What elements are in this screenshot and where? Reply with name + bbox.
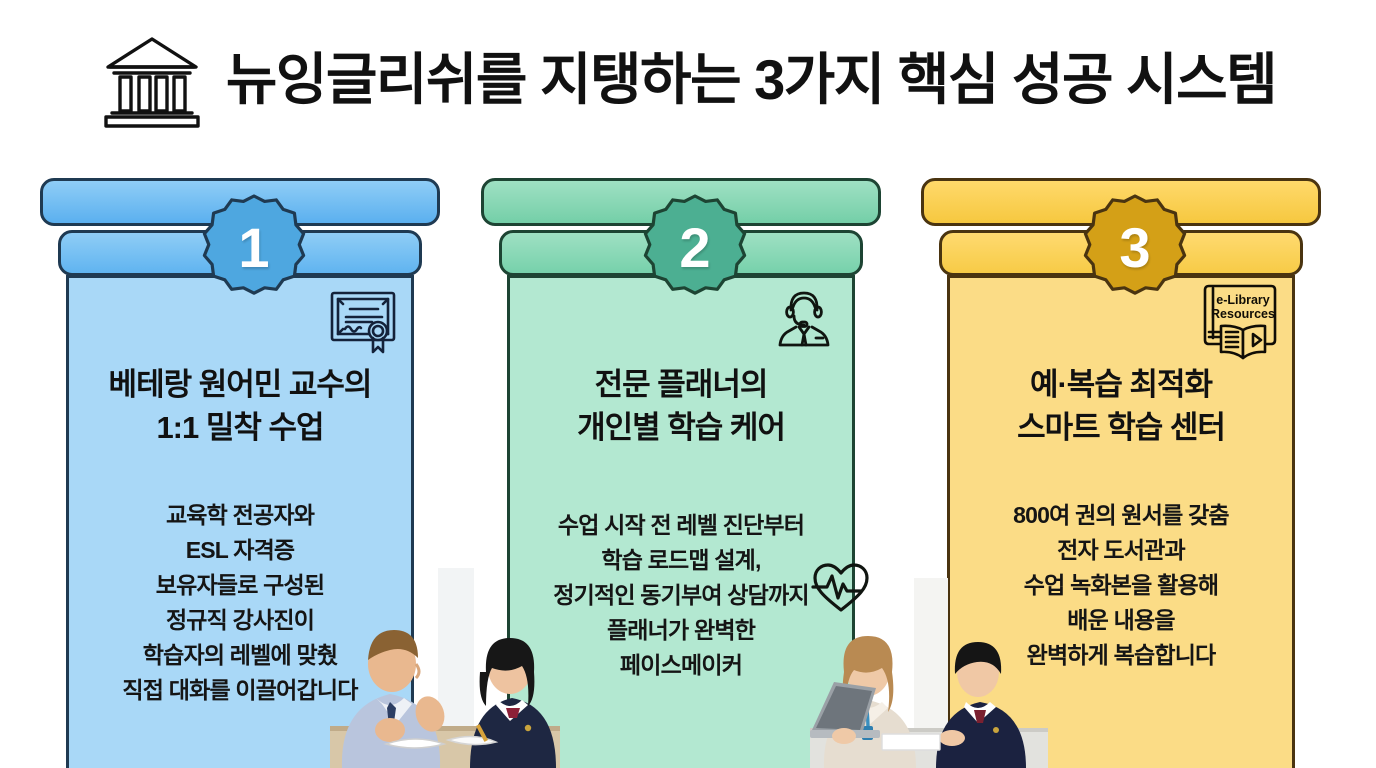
systems-card-row: 1 베테랑 원어민 교수의 1:1 밀착 수업: [0, 178, 1376, 768]
card-heading-line1: 베테랑 원어민 교수의: [70, 364, 410, 407]
card-heading-line2: 스마트 학습 센터: [951, 407, 1291, 450]
support-agent-headset-icon: [769, 286, 839, 356]
teacher-student-photo: [330, 568, 560, 768]
card-body-line: 800여 권의 원서를 갖춤: [937, 498, 1305, 533]
planner-student-photo: [810, 578, 1048, 768]
card-heading-line2: 개인별 학습 케어: [511, 407, 851, 450]
card-body-line: 교육학 전공자와: [56, 498, 424, 533]
page-header: 뉴잉글리쉬를 지탱하는 3가지 핵심 성공 시스템: [0, 0, 1376, 160]
card-heading: 베테랑 원어민 교수의 1:1 밀착 수업: [70, 364, 410, 450]
card-heading-line2: 1:1 밀착 수업: [70, 407, 410, 450]
card-heading: 전문 플래너의 개인별 학습 케어: [511, 364, 851, 450]
page-title: 뉴잉글리쉬를 지탱하는 3가지 핵심 성공 시스템: [226, 49, 1276, 111]
card-number-label: 2: [639, 192, 751, 304]
card-number-badge: 2: [639, 192, 751, 304]
card-number-label: 1: [198, 192, 310, 304]
e-library-label-line2: Resources: [1211, 307, 1275, 321]
e-library-label-line1: e-Library: [1216, 293, 1270, 307]
card-heading-line1: 예·복습 최적화: [951, 364, 1291, 407]
card-number-badge: 3: [1079, 192, 1191, 304]
card-body-line: 전자 도서관과: [937, 533, 1305, 568]
card-number-label: 3: [1079, 192, 1191, 304]
card-heading: 예·복습 최적화 스마트 학습 센터: [951, 364, 1291, 450]
card-body-line: 수업 시작 전 레벨 진단부터: [497, 508, 865, 543]
card-number-badge: 1: [198, 192, 310, 304]
certificate-icon: [328, 286, 398, 356]
e-library-book-icon: e-Library Resources: [1197, 282, 1287, 362]
card-body-line: ESL 자격증: [56, 533, 424, 568]
bank-institution-icon: [100, 33, 204, 129]
card-heading-line1: 전문 플래너의: [511, 364, 851, 407]
